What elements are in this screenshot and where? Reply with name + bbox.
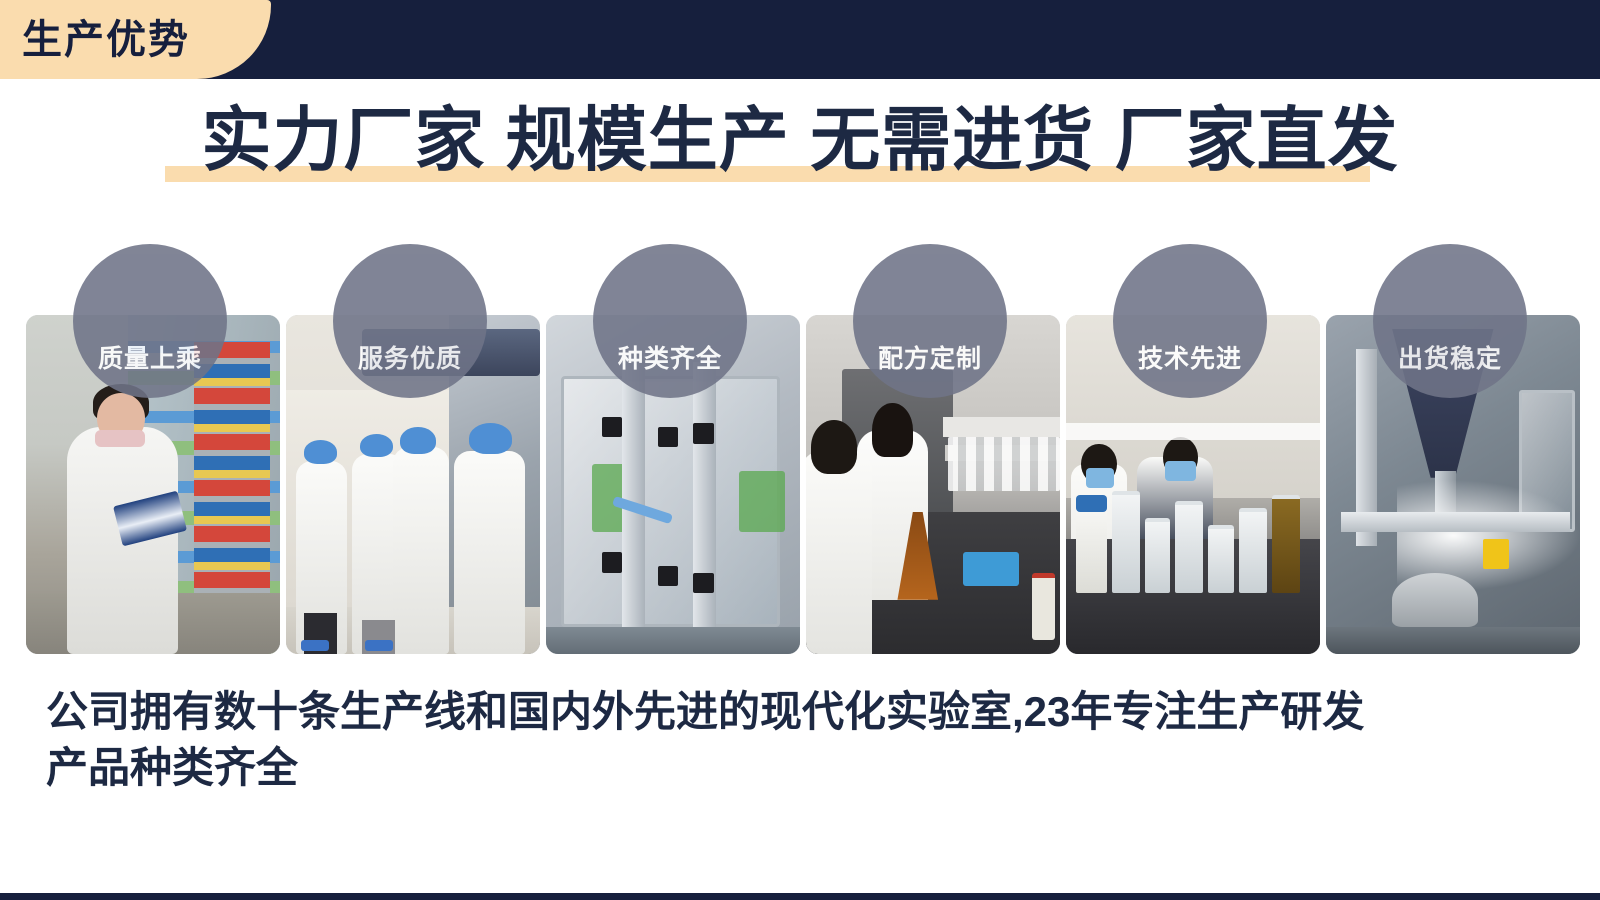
feature-badge: 配方定制	[853, 244, 1007, 398]
headline-block: 实力厂家 规模生产 无需进货 厂家直发	[0, 96, 1600, 188]
promo-page: 生产优势 实力厂家 规模生产 无需进货 厂家直发 质量上乘	[0, 0, 1600, 900]
feature-badge: 质量上乘	[73, 244, 227, 398]
gallery-item: 服务优质	[286, 244, 534, 654]
feature-badge: 服务优质	[333, 244, 487, 398]
caption-line-1: 公司拥有数十条生产线和国内外先进的现代化实验室,23年专注生产研发	[46, 684, 1566, 740]
headline-text: 实力厂家 规模生产 无需进货 厂家直发	[0, 96, 1600, 184]
gallery-item: 配方定制	[806, 244, 1054, 654]
footer-rule	[0, 893, 1600, 900]
section-banner: 生产优势	[0, 0, 1600, 79]
gallery-item: 技术先进	[1066, 244, 1314, 654]
caption-block: 公司拥有数十条生产线和国内外先进的现代化实验室,23年专注生产研发 产品种类齐全	[46, 684, 1566, 796]
section-tab: 生产优势	[0, 0, 271, 79]
gallery-item: 种类齐全	[546, 244, 794, 654]
feature-badge-label: 种类齐全	[618, 347, 722, 398]
feature-badge-label: 配方定制	[878, 347, 982, 398]
feature-badge-label: 质量上乘	[98, 347, 202, 398]
feature-badge: 种类齐全	[593, 244, 747, 398]
feature-badge-label: 服务优质	[358, 347, 462, 398]
gallery-item: 出货稳定	[1326, 244, 1574, 654]
feature-badge: 技术先进	[1113, 244, 1267, 398]
feature-badge-label: 技术先进	[1138, 347, 1242, 398]
caption-line-2: 产品种类齐全	[46, 740, 1566, 796]
feature-badge: 出货稳定	[1373, 244, 1527, 398]
gallery-item: 质量上乘	[26, 244, 274, 654]
feature-badge-label: 出货稳定	[1398, 347, 1502, 398]
section-tab-label: 生产优势	[22, 20, 190, 60]
feature-gallery: 质量上乘 服务优质	[26, 244, 1574, 654]
